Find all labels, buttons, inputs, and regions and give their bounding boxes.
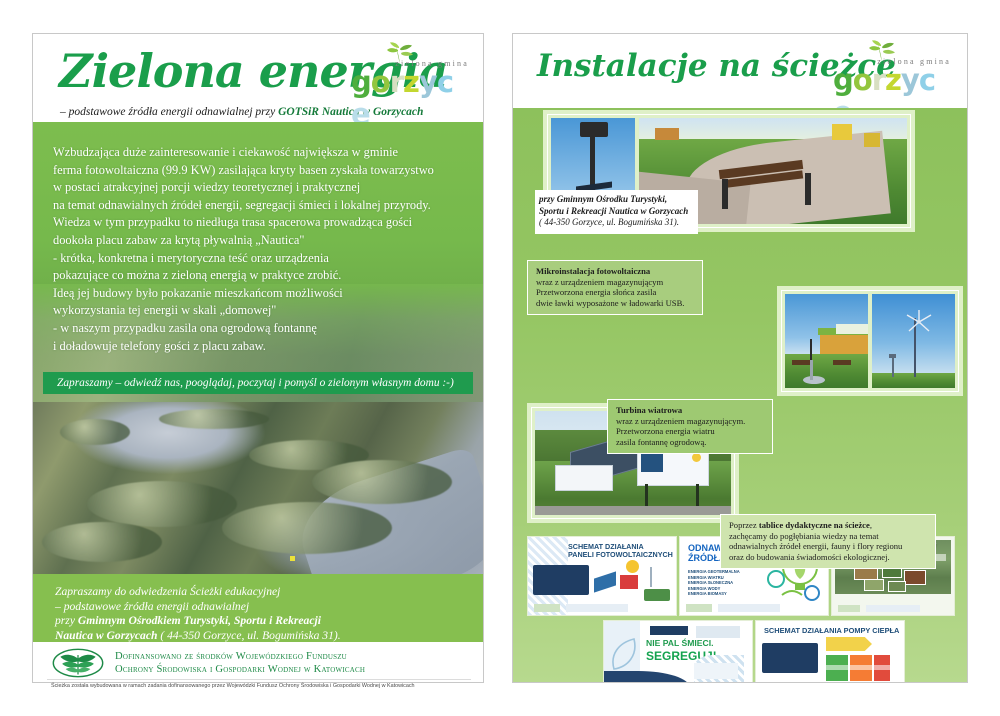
callout-pv-heading: Mikroinstalacja fotowoltaiczna: [536, 266, 650, 276]
left-panel-header: Zielona energia – podstawowe źródła ener…: [33, 34, 483, 122]
logo-letter-g: g: [833, 64, 853, 96]
wfos-credit: Dofinansowano ze środków Wojewódzkiego F…: [51, 648, 365, 678]
funding-fineprint: Ścieżka została wybudowana w ramach zada…: [51, 683, 471, 689]
board-thumb-photovoltaic-scheme: SCHEMAT DZIAŁANIA PANELI FOTOWOLTAICZNYC…: [527, 536, 677, 616]
invite2-line4-bold: Nautica w Gorzycach: [55, 629, 157, 642]
poster-canvas: Zielona energia – podstawowe źródła ener…: [0, 0, 1000, 716]
footer-divider: [47, 679, 471, 680]
logo-letter-o: o: [371, 66, 390, 98]
intro-body-line-2: w postaci atrakcyjnej porcji wiedzy teor…: [53, 179, 467, 197]
intro-body-line-11: i doładowuje telefony gości z placu zaba…: [53, 338, 467, 356]
board-2-item-4: ENERGIA BIOMASY: [688, 591, 740, 597]
invite2-line-1: Zapraszamy do odwiedzenia Ścieżki edukac…: [55, 585, 341, 600]
invite2-line3-plain: przy: [55, 614, 78, 627]
callout-boards-prefix: Poprzez: [729, 520, 759, 530]
logo-letter-r: r: [390, 66, 403, 98]
address-line-2: Sportu i Rekreacji Nautica w Gorzycach: [539, 206, 688, 218]
wfos-credit-text: Dofinansowano ze środków Wojewódzkiego F…: [115, 650, 365, 676]
logo-letter-z: z: [403, 66, 419, 98]
leaf-outline-icon: [608, 635, 640, 675]
intro-body-line-10: - w naszym przypadku zasila ona ogrodową…: [53, 320, 467, 338]
right-panel-body: Mikroinstalacja fotowoltaiczna wraz z ur…: [513, 108, 967, 682]
subtitle-plain: – podstawowe źródła energii odnawialnej …: [60, 106, 278, 118]
logo-letter-o: o: [853, 64, 872, 96]
aerial-landscape-photo: [33, 402, 483, 574]
board-4-title-line1: NIE PAL ŚMIECI.: [646, 639, 714, 648]
board-1-title-line2: PANELI FOTOWOLTAICZNYCH: [568, 550, 673, 559]
photo-nautica-building: [785, 294, 868, 388]
recycle-icon: [632, 681, 648, 682]
intro-text-block: Wzbudzająca duże zainteresowanie i cieka…: [33, 122, 483, 402]
intro-body-line-8: Ideą jej budowy było pokazanie mieszkańc…: [53, 285, 467, 303]
intro-body-line-1: ferma fotowoltaiczna (99.9 KW) zasilając…: [53, 162, 467, 180]
wfos-line-2: Ochrony Środowiska i Gospodarki Wodnej w…: [115, 663, 365, 676]
invite-banner-text: Zapraszamy – odwiedź nas, pooglądaj, poc…: [57, 377, 454, 389]
logo-letter-z: z: [885, 64, 901, 96]
photo-wind-turbine: [872, 294, 955, 388]
wind-turbine-icon: [902, 307, 936, 337]
callout-boards-line-2: zachęcamy do pogłębiania wiedzy na temat: [729, 531, 927, 542]
intro-body-line-5: dookoła placu zabaw za krytą pływalnią „…: [53, 232, 467, 250]
right-poster-panel: Instalacje na ścieżce zielona gmina gorz…: [512, 33, 968, 683]
intro-body-line-0: Wzbudzająca duże zainteresowanie i cieka…: [53, 144, 467, 162]
photo-group-wind: [777, 286, 963, 396]
callout-boards-line-3: odnawialnych źródeł energii, fauny i flo…: [729, 541, 927, 552]
logo-letter-r: r: [872, 64, 885, 96]
wfos-leaf-emblem-icon: [51, 648, 105, 678]
board-2-items: ENERGIA GEOTERMALNA ENERGIA WIATRU ENERG…: [688, 569, 740, 597]
funding-footer: Dofinansowano ze środków Wojewódzkiego F…: [33, 642, 483, 682]
vegetation-blob: [222, 502, 392, 554]
callout-wind-line-2: Przetworzona energia wiatru: [616, 426, 764, 437]
callout-boards-line-4: oraz do budowania świadomości ekologiczn…: [729, 552, 927, 563]
left-poster-panel: Zielona energia – podstawowe źródła ener…: [32, 33, 484, 683]
address-line-1: przy Gminnym Ośrodku Turystyki,: [539, 194, 688, 206]
board-5-title: SCHEMAT DZIAŁANIA POMPY CIEPŁA: [764, 627, 899, 635]
vegetation-blob: [60, 419, 130, 445]
location-marker: [290, 556, 295, 561]
address-line-3: ( 44-350 Gorzyce, ul. Bogumińska 31).: [539, 217, 688, 229]
intro-body-line-3: na temat odnawialnych źródeł energii, se…: [53, 197, 467, 215]
intro-body-text: Wzbudzająca duże zainteresowanie i cieka…: [53, 144, 467, 355]
address-line-2-text: Sportu i Rekreacji Nautica w Gorzycach: [539, 206, 688, 216]
zielona-gmina-logo: zielona gmina gorzyce: [351, 42, 469, 104]
address-line-1-text: przy Gminnym Ośrodku Turystyki,: [539, 194, 667, 204]
logo-letter-g: g: [351, 66, 371, 98]
logo-wordmark: gorzyce: [833, 64, 951, 98]
board-2-item-0: ENERGIA GEOTERMALNA: [688, 569, 740, 575]
callout-educational-boards: Poprzez tablice dydaktyczne na ścieżce, …: [720, 514, 936, 569]
vegetation-blob: [87, 481, 237, 527]
callout-boards-bold: tablice dydaktyczne na ścieżce: [759, 520, 870, 530]
logo-letter-c: c: [919, 64, 935, 96]
board-1-title: SCHEMAT DZIAŁANIA PANELI FOTOWOLTAICZNYC…: [568, 543, 673, 559]
logo-letter-c: c: [437, 66, 453, 98]
callout-pv-line-2: Przetworzona energia słońca zasila: [536, 287, 694, 298]
callout-photovoltaic-microinstallation: Mikroinstalacja fotowoltaiczna wraz z ur…: [527, 260, 703, 315]
invite2-line-3: przy Gminnym Ośrodkiem Turystyki, Sportu…: [55, 614, 341, 629]
logo-wordmark: gorzyce: [351, 66, 469, 100]
board-2-item-2: ENERGIA SŁONECZNA: [688, 580, 740, 586]
logo-letter-y: y: [419, 66, 437, 98]
callout-boards-line-1: Poprzez tablice dydaktyczne na ścieżce,: [729, 520, 927, 531]
intro-body-line-7: pokazujące co można z zieloną energią w …: [53, 267, 467, 285]
callout-wind-turbine: Turbina wiatrowa wraz z urządzeniem maga…: [607, 399, 773, 454]
invite2-line-2: – podstawowe źródła energii odnawialnej: [55, 600, 341, 615]
callout-wind-line-3: zasila fontannę ogrodową.: [616, 437, 764, 448]
callout-wind-heading: Turbina wiatrowa: [616, 405, 682, 415]
board-thumb-heat-pump-scheme: SCHEMAT DZIAŁANIA POMPY CIEPŁA: [755, 620, 905, 682]
wfos-line-1: Dofinansowano ze środków Wojewódzkiego F…: [115, 650, 365, 663]
vegetation-blob: [159, 409, 269, 429]
callout-pv-line-3: dwie ławki wyposażone w ładowarki USB.: [536, 298, 694, 309]
invite2-line3-bold: Gminnym Ośrodkiem Turystyki, Sportu i Re…: [78, 614, 321, 627]
invite-banner: Zapraszamy – odwiedź nas, pooglądaj, poc…: [43, 372, 473, 394]
intro-body-line-4: Wiedza w tym przypadku to niedługa trasa…: [53, 214, 467, 232]
board-thumb-segregate-waste: NIE PAL ŚMIECI. SEGREGUJ!: [603, 620, 753, 682]
right-panel-header: Instalacje na ścieżce zielona gmina gorz…: [513, 34, 967, 108]
intro-body-line-9: wykorzystania tej energii w skali „domow…: [53, 302, 467, 320]
zielona-gmina-logo-right: zielona gmina gorzyce: [833, 40, 951, 102]
visit-invitation-block: Zapraszamy do odwiedzenia Ścieżki edukac…: [33, 574, 483, 642]
callout-pv-line-1: wraz z urządzeniem magazynującym: [536, 277, 694, 288]
right-panel-address: przy Gminnym Ośrodku Turystyki, Sportu i…: [535, 190, 698, 234]
vegetation-blob: [42, 522, 162, 562]
invite2-line4-plain: ( 44-350 Gorzyce, ul. Bogumińska 31).: [160, 629, 340, 642]
callout-boards-comma: ,: [870, 520, 872, 530]
logo-letter-y: y: [901, 64, 919, 96]
visit-invitation-text: Zapraszamy do odwiedzenia Ścieżki edukac…: [55, 585, 341, 643]
intro-body-line-6: - krótka, konkretna i merytoryczna teść …: [53, 250, 467, 268]
callout-wind-line-1: wraz z urządzeniem magazynującym.: [616, 416, 764, 427]
